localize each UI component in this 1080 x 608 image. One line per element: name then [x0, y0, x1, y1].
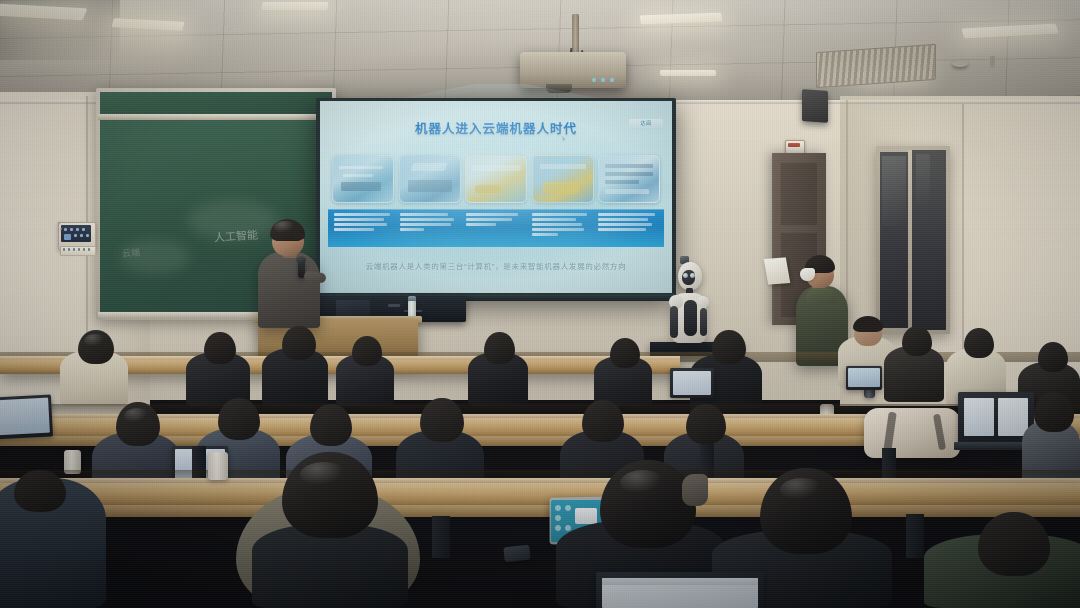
equipment-indicator-1 [388, 304, 400, 307]
student-r2-3-head [310, 404, 352, 446]
robot-eye-left [683, 273, 688, 278]
desk-leg-4 [432, 516, 450, 558]
slide-title: 机器人进入云端机器人时代 [320, 118, 672, 137]
door-notice-paper [764, 257, 791, 284]
student-r2-7-head [1034, 392, 1074, 432]
band-column-3 [466, 213, 526, 243]
robot-arm-right [700, 308, 707, 336]
student-rr-3-head [902, 326, 932, 356]
student-rr-1-head [712, 330, 746, 364]
student-rr-5-head [1038, 342, 1068, 372]
laptop-right-main-screen-right [998, 398, 1028, 436]
switch-2[interactable] [68, 248, 70, 251]
robot-shoulder-right [697, 296, 709, 308]
switch-3[interactable] [73, 248, 75, 251]
band-column-1 [334, 213, 394, 243]
thumb4-sheen [533, 156, 593, 202]
robot-chest-panel [684, 300, 697, 336]
control-button-1[interactable] [64, 228, 67, 231]
student-rr-4-head [964, 328, 994, 358]
control-button-6[interactable] [74, 234, 77, 237]
door-panel-upper [780, 162, 818, 226]
slide-logo: 达闼 [629, 119, 663, 130]
student-fg-3-hand [682, 474, 708, 506]
band-column-5 [598, 213, 658, 243]
student-r1-6-head [610, 338, 640, 368]
slide-thumbnail-2 [399, 155, 461, 203]
projector-led-3 [610, 78, 614, 82]
slide-thumbnail-3 [465, 155, 527, 203]
smartphone[interactable] [503, 545, 530, 563]
exit-sign-marker [788, 143, 800, 147]
student-r1-3-head [282, 326, 316, 360]
laptop-right-upper-2-screen [848, 368, 880, 387]
control-button-8[interactable] [86, 234, 89, 237]
wall-seam-far-right [962, 104, 964, 354]
observer-hood [806, 288, 836, 304]
wall-speaker [802, 89, 828, 123]
tablet-app-icon-5[interactable] [565, 525, 571, 531]
band-column-2 [400, 213, 460, 243]
student-r2-2-head [218, 398, 260, 440]
thumb1-sheen [333, 156, 393, 202]
projector-led-1 [592, 78, 596, 82]
projector-lens [546, 84, 572, 93]
slide-thumbnail-row [332, 155, 660, 203]
tablet-app-icon-1[interactable] [555, 505, 561, 511]
bottle-cap [408, 296, 416, 301]
tablet-app-icon-4[interactable] [565, 505, 571, 511]
slide-band-columns [328, 209, 664, 247]
projector [520, 52, 626, 88]
student-r1-4-head [352, 336, 382, 366]
student-r2-6-head [686, 404, 726, 444]
switch-4[interactable] [78, 248, 80, 251]
desk-leg-5 [906, 514, 924, 558]
presenter-body [258, 252, 320, 328]
control-button-4[interactable] [82, 228, 85, 231]
switch-1[interactable] [63, 248, 65, 251]
slide-thumbnail-5 [598, 155, 660, 203]
control-button-7[interactable] [80, 234, 83, 237]
slide-thumbnail-1 [332, 155, 394, 203]
student-r2-5-head [582, 400, 624, 442]
desk-row-3 [0, 483, 1080, 507]
control-button-2[interactable] [70, 228, 73, 231]
ceiling-light-3 [261, 2, 328, 10]
student-fg-1-head [14, 470, 66, 512]
student-r1-2-head [204, 332, 236, 364]
student-r2-1-hair-sheen [124, 408, 150, 424]
robot-eye-right [690, 273, 695, 278]
switch-6[interactable] [88, 248, 90, 251]
notice-sign-left [60, 228, 62, 230]
student-fg-5-head [978, 512, 1050, 576]
presentation-slide: 机器人进入云端机器人时代 达闼 [320, 101, 672, 293]
student-fg-2-hair-sheen [300, 462, 348, 488]
control-button-5[interactable] [64, 234, 71, 240]
tablet-app-icon-2[interactable] [555, 515, 561, 521]
student-r2-4-head [420, 398, 464, 442]
presenter-glasses [294, 234, 305, 239]
control-button-3[interactable] [76, 228, 79, 231]
laptop-right-main-screen-left [964, 398, 994, 436]
projector-led-2 [601, 78, 605, 82]
ceiling-light-7 [660, 70, 717, 76]
blackboard-upper [100, 92, 332, 114]
smoke-detector-icon [952, 60, 968, 67]
tablet-open-window[interactable] [575, 508, 597, 524]
laptop-left-1-screen [0, 398, 50, 436]
microphone-head [296, 256, 306, 264]
laptop-right-upper-screen [673, 371, 711, 395]
thumb2-sheen [400, 156, 460, 202]
student-fg-4-hair-sheen [780, 478, 824, 502]
lecture-hall-photo: 人工智能 云端 机器人进入云端机器人时代 达闼 [0, 0, 1080, 608]
window-reflection [882, 156, 906, 226]
chalk-writing-1: 人工智能 [213, 226, 258, 245]
projector-mount [572, 14, 579, 54]
slide-thumbnail-4 [532, 155, 594, 203]
slide-caption: 云端机器人是人类的第三台“计算机”，是未来智能机器人发展的必然方向 [320, 261, 672, 272]
thumb3-sheen [466, 156, 526, 202]
thumb5-sheen [599, 156, 659, 202]
laptop-foreground-titlebar [602, 578, 758, 585]
slide-text-band [328, 209, 664, 247]
tablet-app-icon-3[interactable] [555, 525, 561, 531]
window-reflection-2 [916, 154, 930, 206]
observer-face-mask [800, 268, 815, 281]
presenter-hair-sheen [274, 221, 296, 234]
white-backpack [864, 408, 960, 458]
fire-sprinkler-icon [990, 56, 995, 68]
cup-foreground [208, 452, 228, 480]
chalk-writing-2: 云端 [122, 245, 141, 259]
robot-arm-left [670, 306, 678, 338]
band-column-4 [532, 213, 592, 243]
student-rr-2-hair [853, 316, 883, 332]
student-fg-3-hair-sheen [620, 470, 666, 496]
student-r1-5-head [484, 332, 515, 364]
left-wall-sign [58, 222, 60, 224]
student-r1-1-hair-sheen [84, 334, 106, 348]
switch-5[interactable] [83, 248, 85, 251]
